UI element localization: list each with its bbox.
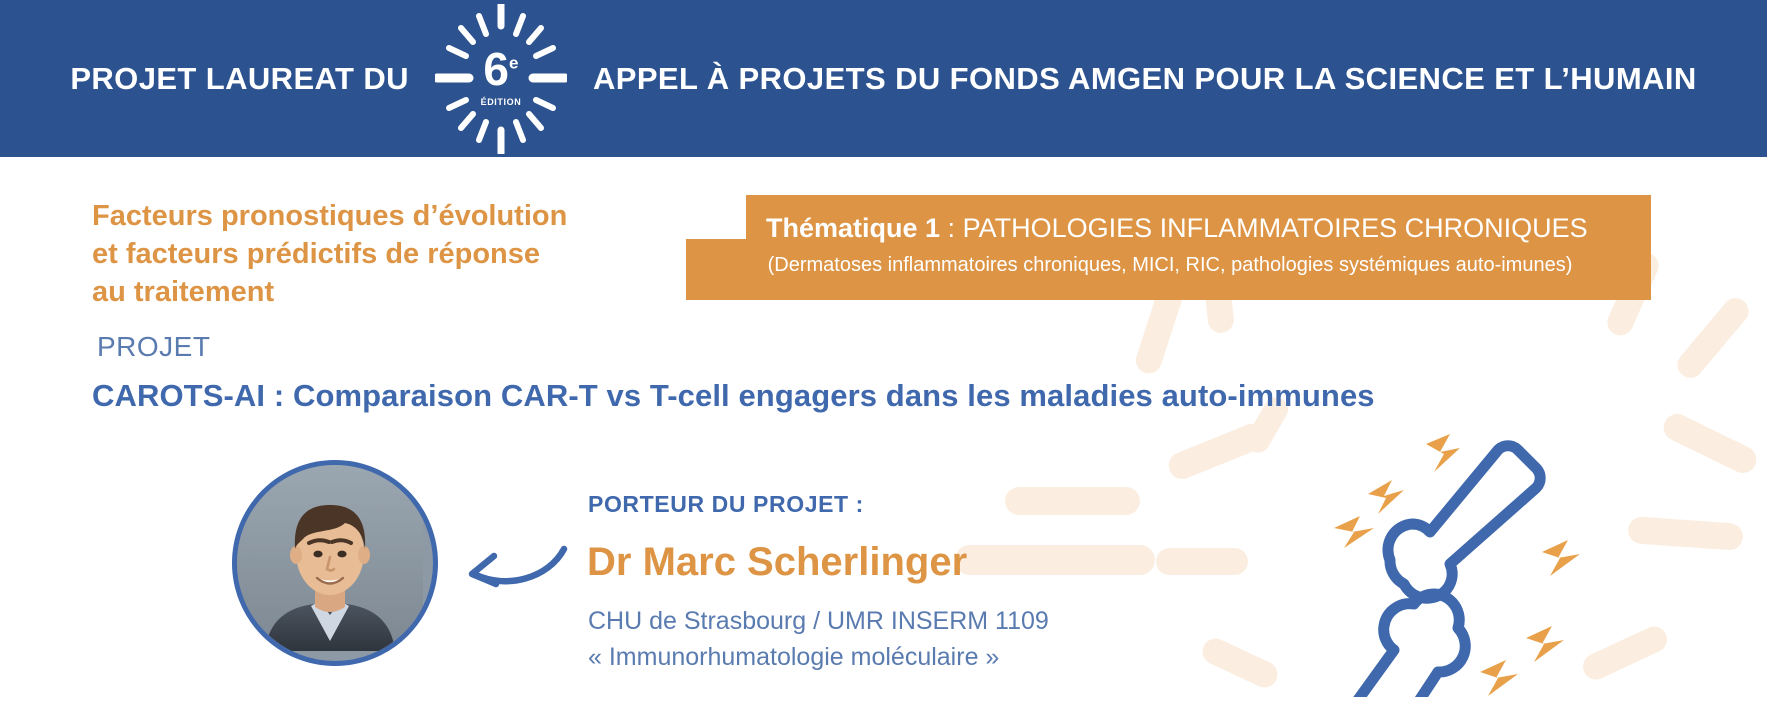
thematique-heading: Thématique 1 : PATHOLOGIES INFLAMMATOIRE… bbox=[766, 213, 1651, 244]
thematique-subtitle: (Dermatoses inflammatoires chroniques, M… bbox=[700, 253, 1640, 277]
project-holder-label: PORTEUR DU PROJET : bbox=[588, 491, 864, 518]
poster-page: PROJET LAUREAT DU bbox=[0, 0, 1767, 708]
thematique-banner: Thématique 1 : PATHOLOGIES INFLAMMATOIRE… bbox=[686, 195, 1651, 300]
thematique-main-shape bbox=[746, 195, 1651, 300]
decor-ray-6 bbox=[1156, 548, 1248, 575]
decor-ray-7 bbox=[1627, 516, 1744, 551]
theme-title-line-2: et facteurs prédictifs de réponse bbox=[92, 236, 612, 274]
decor-ray-13 bbox=[1005, 487, 1140, 515]
theme-title: Facteurs pronostiques d’évolution et fac… bbox=[92, 198, 612, 312]
edition-logo: 6e ÉDITION bbox=[435, 4, 567, 154]
decor-ray-11 bbox=[1198, 634, 1281, 691]
bone-joint-pain-icon bbox=[1330, 432, 1580, 697]
edition-number: 6e bbox=[435, 46, 567, 92]
curved-arrow-icon bbox=[460, 535, 570, 605]
thematique-separator: : bbox=[940, 213, 963, 243]
thematique-value: PATHOLOGIES INFLAMMATOIRES CHRONIQUES bbox=[963, 213, 1588, 243]
banner-left-text: PROJET LAUREAT DU bbox=[70, 63, 409, 94]
theme-title-line-3: au traitement bbox=[92, 274, 612, 312]
decor-ray-5 bbox=[1165, 420, 1270, 483]
portrait-photo bbox=[237, 465, 423, 651]
top-banner: PROJET LAUREAT DU bbox=[0, 0, 1767, 157]
banner-right-text: APPEL À PROJETS DU FONDS AMGEN POUR LA S… bbox=[593, 63, 1697, 94]
decor-ray-10 bbox=[1579, 622, 1672, 684]
decor-ray-4 bbox=[1672, 293, 1754, 383]
decor-ray-8 bbox=[1659, 409, 1761, 477]
project-holder-name: Dr Marc Scherlinger bbox=[587, 540, 967, 585]
project-label: PROJET bbox=[97, 331, 210, 363]
banner-content: PROJET LAUREAT DU bbox=[0, 0, 1767, 157]
edition-caption: ÉDITION bbox=[435, 97, 567, 107]
decor-ray-12 bbox=[955, 545, 1155, 575]
theme-title-line-1: Facteurs pronostiques d’évolution bbox=[92, 198, 612, 236]
project-title: CAROTS-AI : Comparaison CAR-T vs T-cell … bbox=[92, 378, 1375, 414]
avatar bbox=[232, 460, 438, 666]
project-holder-affiliation-1: CHU de Strasbourg / UMR INSERM 1109 bbox=[588, 607, 1049, 636]
project-holder-affiliation-2: « Immunorhumatologie moléculaire » bbox=[588, 643, 999, 672]
thematique-label: Thématique 1 bbox=[766, 213, 940, 243]
